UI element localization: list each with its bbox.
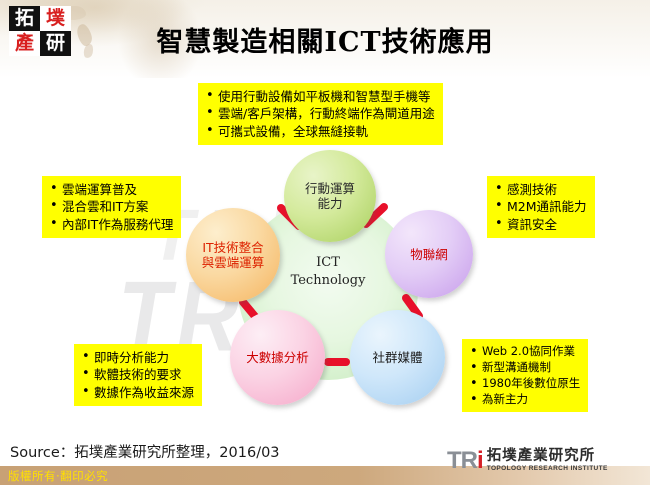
- node-label-line1: 行動運算: [305, 181, 355, 196]
- callout-bottom-right: Web 2.0協同作業 新型溝通機制 1980年後數位原生 為新主力: [462, 339, 588, 412]
- callout-item: 新型溝通機制: [468, 360, 580, 376]
- brand-logo: 拓 墣 產 研: [9, 6, 71, 56]
- callout-item: 雲端/客戶架構，行動終端作為閘道用途: [204, 105, 435, 122]
- node-label-line2: 與雲端運算: [202, 255, 265, 270]
- logo-char-2: 墣: [40, 6, 71, 31]
- node-label-line1: IT技術整合: [202, 240, 265, 255]
- ict-technology-diagram: ICT Technology 行動運算 能力 物聯網: [180, 150, 480, 420]
- node-social-media[interactable]: 社群媒體: [350, 310, 445, 405]
- callout-item: 數據作為收益來源: [80, 384, 194, 401]
- page-title: 智慧製造相關ICT技術應用: [0, 20, 650, 59]
- tri-letter-t: T: [447, 447, 461, 474]
- node-label-line1: 大數據分析: [246, 350, 309, 365]
- node-big-data-analytics[interactable]: 大數據分析: [230, 310, 325, 405]
- callout-top: 使用行動設備如平板機和智慧型手機等 雲端/客戶架構，行動終端作為閘道用途 可攜式…: [198, 83, 443, 145]
- tri-letter-r: R: [461, 447, 477, 474]
- callout-item: 感測技術: [493, 181, 587, 198]
- callout-item: 雲端運算普及: [48, 181, 173, 198]
- tri-letter-i: i: [477, 447, 483, 474]
- node-label-line1: 物聯網: [410, 247, 448, 262]
- node-internet-of-things[interactable]: 物聯網: [385, 210, 473, 298]
- callout-right: 感測技術 M2M通訊能力 資訊安全: [487, 176, 595, 238]
- callout-left: 雲端運算普及 混合雲和IT方案 內部IT作為服務代理: [42, 176, 181, 238]
- callout-item: 即時分析能力: [80, 349, 194, 366]
- logo-char-3: 產: [9, 31, 40, 56]
- callout-item: 軟體技術的要求: [80, 366, 194, 383]
- slide-canvas: TRI TRI 拓 墣 產 研 智慧製造相關ICT技術應用 使用行動設備如平板機…: [0, 0, 650, 485]
- logo-char-1: 拓: [9, 6, 40, 31]
- tri-name-block: 拓墣產業研究所 TOPOLOGY RESEARCH INSTITUTE: [487, 449, 608, 472]
- tri-wordmark: TRi: [447, 449, 483, 473]
- callout-item: 1980年後數位原生: [468, 376, 580, 392]
- logo-char-4: 研: [40, 31, 71, 56]
- tri-name-english: TOPOLOGY RESEARCH INSTITUTE: [487, 465, 608, 472]
- node-label-line2: 能力: [305, 196, 355, 211]
- callout-bottom-left: 即時分析能力 軟體技術的要求 數據作為收益來源: [74, 344, 202, 406]
- copyright-notice: 版權所有‧翻印必究: [8, 468, 108, 484]
- source-note: Source：拓墣產業研究所整理，2016/03: [10, 441, 280, 462]
- callout-item: 資訊安全: [493, 216, 587, 233]
- callout-item: 內部IT作為服務代理: [48, 216, 173, 233]
- callout-item: 混合雲和IT方案: [48, 198, 173, 215]
- callout-item: 可攜式設備，全球無縫接軌: [204, 123, 435, 140]
- node-mobile-computing[interactable]: 行動運算 能力: [284, 150, 376, 242]
- callout-item: 為新主力: [468, 392, 580, 408]
- callout-item: 使用行動設備如平板機和智慧型手機等: [204, 88, 435, 105]
- tri-name-chinese: 拓墣產業研究所: [487, 449, 608, 464]
- callout-item: Web 2.0協同作業: [468, 344, 580, 360]
- node-label-line1: 社群媒體: [372, 350, 422, 365]
- callout-item: M2M通訊能力: [493, 198, 587, 215]
- node-it-integration-cloud[interactable]: IT技術整合 與雲端運算: [186, 208, 280, 302]
- tri-footer-logo: TRi 拓墣產業研究所 TOPOLOGY RESEARCH INSTITUTE: [447, 449, 608, 477]
